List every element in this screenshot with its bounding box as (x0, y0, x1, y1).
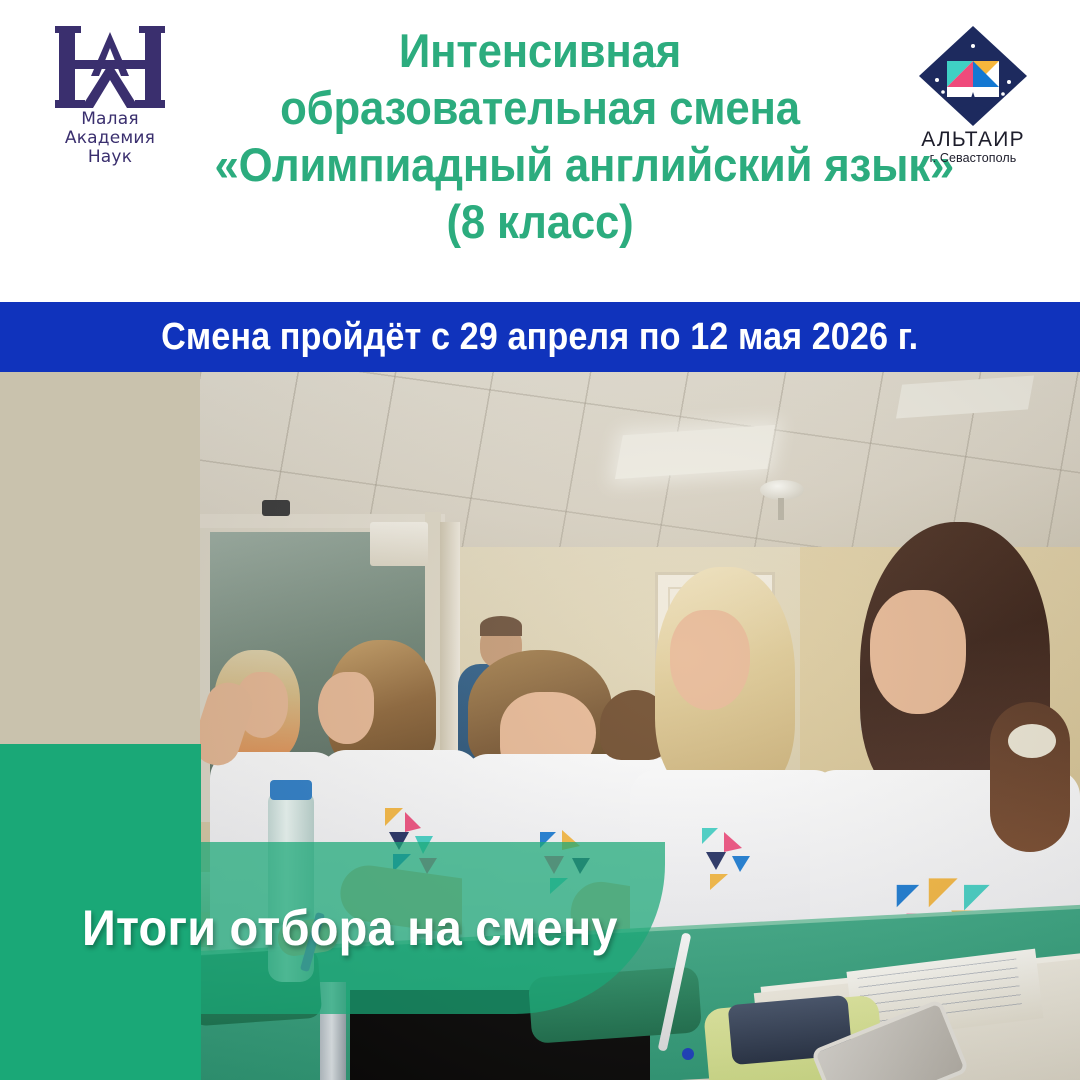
photo-smoke-detector-stem (778, 498, 784, 520)
header: Малая Академия Наук Интенсивная образова… (0, 0, 1080, 302)
photo-student-6-scrunchie (1008, 724, 1056, 758)
man-logo-line3: Наук (38, 148, 182, 167)
photo-student-6-face (870, 590, 966, 714)
date-banner-text: Смена пройдёт с 29 апреля по 12 мая 2026… (161, 316, 918, 359)
man-logo-line1: Малая (38, 110, 182, 129)
photo-student-4-face (670, 610, 750, 710)
poster-root: Малая Академия Наук Интенсивная образова… (0, 0, 1080, 1080)
photo-wall-speaker (370, 522, 428, 566)
photo-wall-camera (262, 500, 290, 516)
man-logo-text: Малая Академия Наук (38, 110, 182, 167)
altair-logo-subtitle: г. Севастополь (898, 151, 1048, 166)
altair-logo-title: АЛЬТАИР (898, 129, 1048, 151)
photo-student-2-face (318, 672, 374, 744)
date-banner: Смена пройдёт с 29 апреля по 12 мая 2026… (0, 302, 1080, 372)
altair-diamond-icon (917, 24, 1029, 128)
man-logo: Малая Академия Наук (38, 26, 182, 176)
title-line-4: (8 класс) (215, 193, 866, 250)
title-line-3: «Олимпиадный английский язык» (215, 136, 866, 193)
photo-standing-man-hair (480, 616, 522, 636)
title-line-2: образовательная смена (215, 79, 866, 136)
man-monogram-icon (55, 26, 165, 108)
photo-pen-tip (682, 1048, 694, 1060)
title-line-1: Интенсивная (215, 22, 866, 79)
photo-bottle-cap (270, 780, 312, 800)
photo-tshirt-print-4 (690, 824, 764, 902)
photo-smoke-detector (760, 480, 804, 500)
man-logo-line2: Академия (38, 129, 182, 148)
results-label: Итоги отбора на смену (0, 842, 665, 1014)
poster-title: Интенсивная образовательная смена «Олимп… (215, 22, 866, 250)
results-label-text: Итоги отбора на смену (82, 899, 618, 957)
altair-logo: АЛЬТАИР г. Севастополь (898, 24, 1048, 176)
